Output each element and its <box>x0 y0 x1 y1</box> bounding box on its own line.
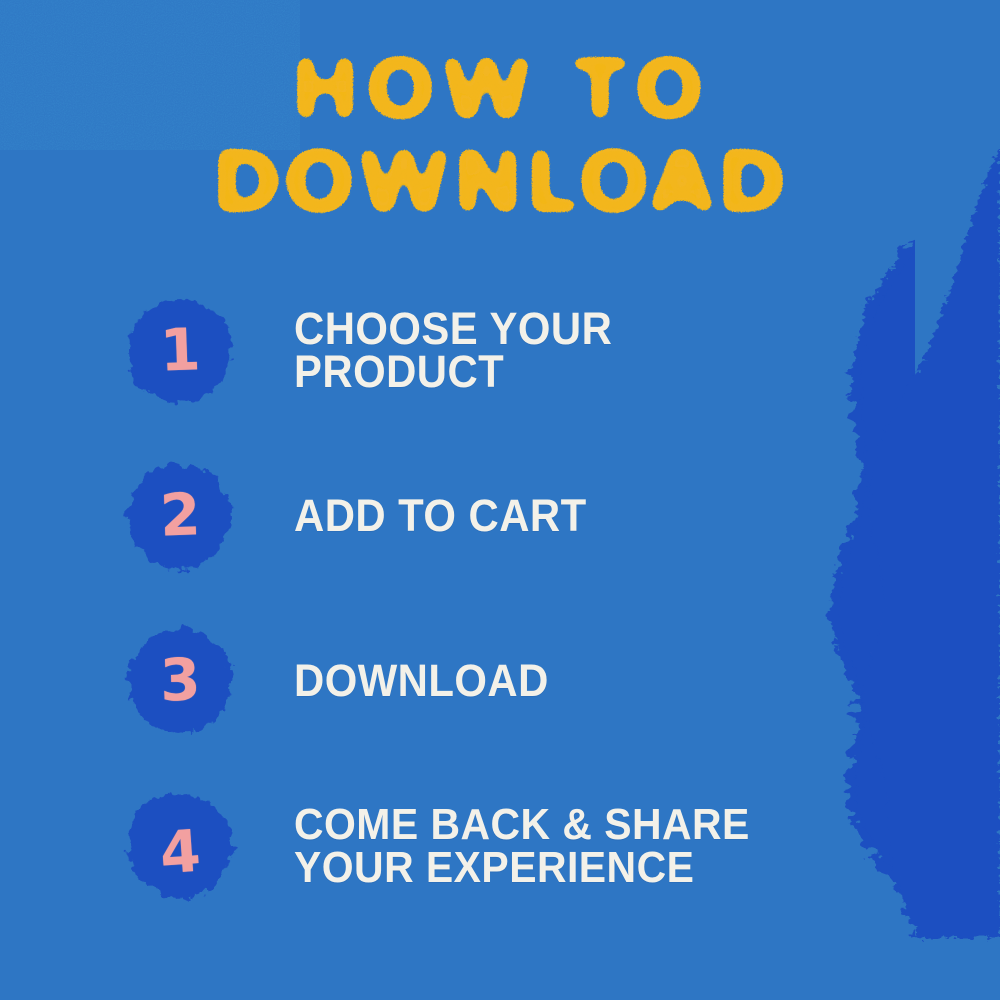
step-number-badge: 1 <box>118 289 242 413</box>
title-line-1-text: HOW TO <box>290 41 709 138</box>
step-label: COME BACK & SHARE YOUR EXPERIENCE <box>294 803 750 889</box>
list-item: 1 CHOOSE YOUR PRODUCT <box>0 292 820 410</box>
step-number: 4 <box>158 822 201 883</box>
title-line-1: HOW TO <box>120 46 880 136</box>
page-title: HOW TO DOWNLOAD <box>0 46 1000 228</box>
list-item: 2 ADD TO CART <box>0 457 820 575</box>
step-number: 1 <box>159 320 200 379</box>
step-label: ADD TO CART <box>294 495 587 538</box>
poster-canvas: HOW TO DOWNLOAD <box>0 0 1000 1000</box>
step-label: DOWNLOAD <box>294 660 549 703</box>
step-number-badge: 2 <box>118 454 242 578</box>
step-number-badge: 3 <box>118 619 242 743</box>
step-number: 3 <box>159 650 200 709</box>
title-line-2-text: DOWNLOAD <box>211 132 788 231</box>
step-label: CHOOSE YOUR PRODUCT <box>294 308 783 394</box>
list-item: 4 COME BACK & SHARE YOUR EXPERIENCE <box>0 787 820 905</box>
step-number-badge: 4 <box>118 784 242 908</box>
step-number: 2 <box>159 485 200 544</box>
steps-list: 1 CHOOSE YOUR PRODUCT 2 ADD TO CART <box>0 292 820 952</box>
list-item: 3 DOWNLOAD <box>0 622 820 740</box>
title-line-2: DOWNLOAD <box>120 136 880 228</box>
